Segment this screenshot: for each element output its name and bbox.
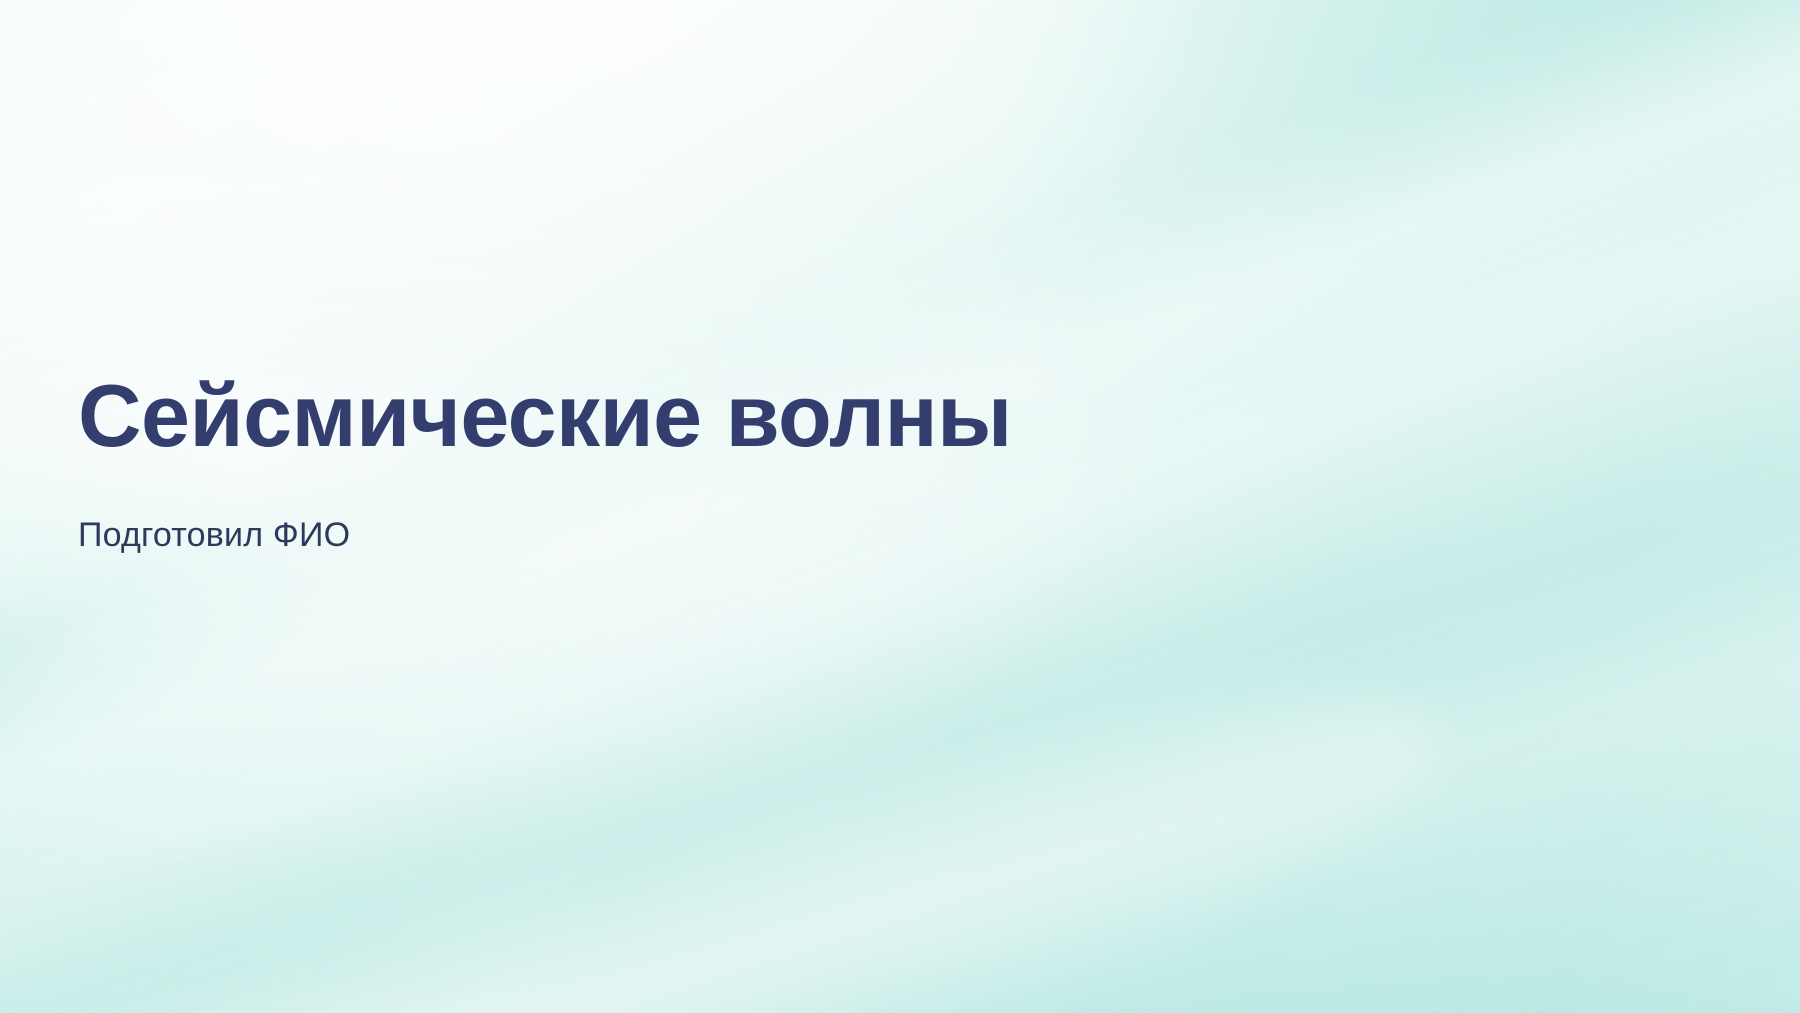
title-slide: Сейсмические волны Подготовил ФИО bbox=[0, 0, 1800, 1013]
page-title: Сейсмические волны bbox=[78, 372, 1638, 460]
decorative-wave-bottom-streak bbox=[0, 594, 1480, 1013]
slide-subtitle-author: Подготовил ФИО bbox=[78, 460, 1638, 556]
slide-text-block: Сейсмические волны Подготовил ФИО bbox=[78, 372, 1638, 556]
